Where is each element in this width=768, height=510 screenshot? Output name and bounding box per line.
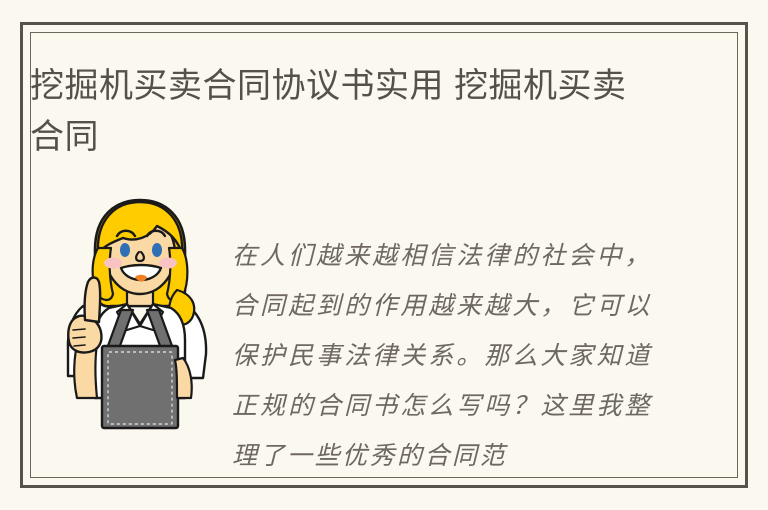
article-body-text: 在人们越来越相信法律的社会中，合同起到的作用越来越大，它可以保护民事法律关系。那…: [232, 231, 652, 481]
cartoon-woman-pointing-up-illustration: [65, 198, 215, 433]
article-content: 在人们越来越相信法律的社会中，合同起到的作用越来越大，它可以保护民事法律关系。那…: [30, 178, 748, 490]
knuckle-line-1: [73, 329, 85, 330]
page-root: 挖掘机买卖合同协议书实用 挖掘机买卖合同: [0, 0, 768, 510]
left-eye-shape: [120, 243, 130, 257]
knuckle-line-2: [73, 337, 85, 338]
right-eye-shape: [152, 243, 162, 257]
left-blush-shape: [104, 258, 122, 269]
index-finger-shape: [85, 278, 101, 323]
right-blush-shape: [159, 258, 177, 269]
apron-body-shape: [102, 346, 178, 428]
knuckle-line-3: [74, 345, 85, 346]
page-title: 挖掘机买卖合同协议书实用 挖掘机买卖合同: [30, 61, 630, 163]
